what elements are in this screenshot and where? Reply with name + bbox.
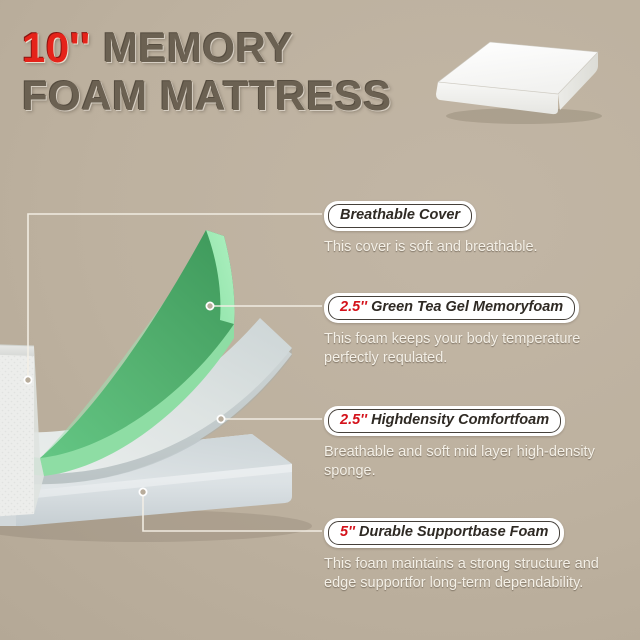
callout-measure-comfortfoam: 2.5'' bbox=[340, 412, 367, 428]
callout-description-memoryfoam: This foam keeps your body temperature pe… bbox=[324, 330, 604, 368]
title-measurement: 10'' bbox=[22, 24, 91, 71]
title-line-2: FOAM MATTRESS bbox=[22, 72, 442, 120]
layer-cover-face bbox=[0, 344, 34, 518]
callout-label-pill-comfortfoam[interactable]: 2.5'' Highdensity Comfortfoam bbox=[324, 406, 565, 436]
callout-measure-supportbase: 5'' bbox=[340, 524, 355, 540]
callout-label-pill-cover[interactable]: Breathable Cover bbox=[324, 201, 476, 231]
callout-highdensity-comfortfoam: 2.5'' Highdensity Comfortfoam Breathable… bbox=[324, 406, 604, 481]
title-line-1-rest: MEMORY bbox=[91, 24, 294, 71]
callout-title-memoryfoam: Green Tea Gel Memoryfoam bbox=[367, 299, 563, 315]
page-title: 10'' MEMORY FOAM MATTRESS bbox=[22, 24, 442, 120]
product-thumbnail bbox=[432, 36, 612, 126]
callout-description-supportbase: This foam maintains a strong structure a… bbox=[324, 555, 604, 593]
callout-description-cover: This cover is soft and breathable. bbox=[324, 238, 538, 257]
callout-label-text-supportbase: 5'' Durable Supportbase Foam bbox=[328, 521, 560, 545]
callout-label-pill-memoryfoam[interactable]: 2.5'' Green Tea Gel Memoryfoam bbox=[324, 293, 579, 323]
callout-measure-memoryfoam: 2.5'' bbox=[340, 299, 367, 315]
callout-breathable-cover: Breathable Cover This cover is soft and … bbox=[324, 201, 538, 257]
callout-description-comfortfoam: Breathable and soft mid layer high-densi… bbox=[324, 443, 604, 481]
callout-label-text-cover: Breathable Cover bbox=[328, 204, 472, 228]
callout-title-supportbase: Durable Supportbase Foam bbox=[355, 524, 548, 540]
callout-label-pill-supportbase[interactable]: 5'' Durable Supportbase Foam bbox=[324, 518, 564, 548]
callout-green-tea-gel-memoryfoam: 2.5'' Green Tea Gel Memoryfoam This foam… bbox=[324, 293, 604, 368]
callout-label-text-memoryfoam: 2.5'' Green Tea Gel Memoryfoam bbox=[328, 296, 575, 320]
callout-title-comfortfoam: Highdensity Comfortfoam bbox=[367, 412, 549, 428]
title-line-1: 10'' MEMORY bbox=[22, 24, 442, 72]
callout-label-text-comfortfoam: 2.5'' Highdensity Comfortfoam bbox=[328, 409, 561, 433]
infographic-canvas: 10'' MEMORY FOAM MATTRESS bbox=[0, 0, 640, 640]
callout-title-cover: Breathable Cover bbox=[340, 207, 460, 223]
mattress-layer-cutaway bbox=[0, 196, 322, 556]
callout-durable-supportbase-foam: 5'' Durable Supportbase Foam This foam m… bbox=[324, 518, 604, 593]
